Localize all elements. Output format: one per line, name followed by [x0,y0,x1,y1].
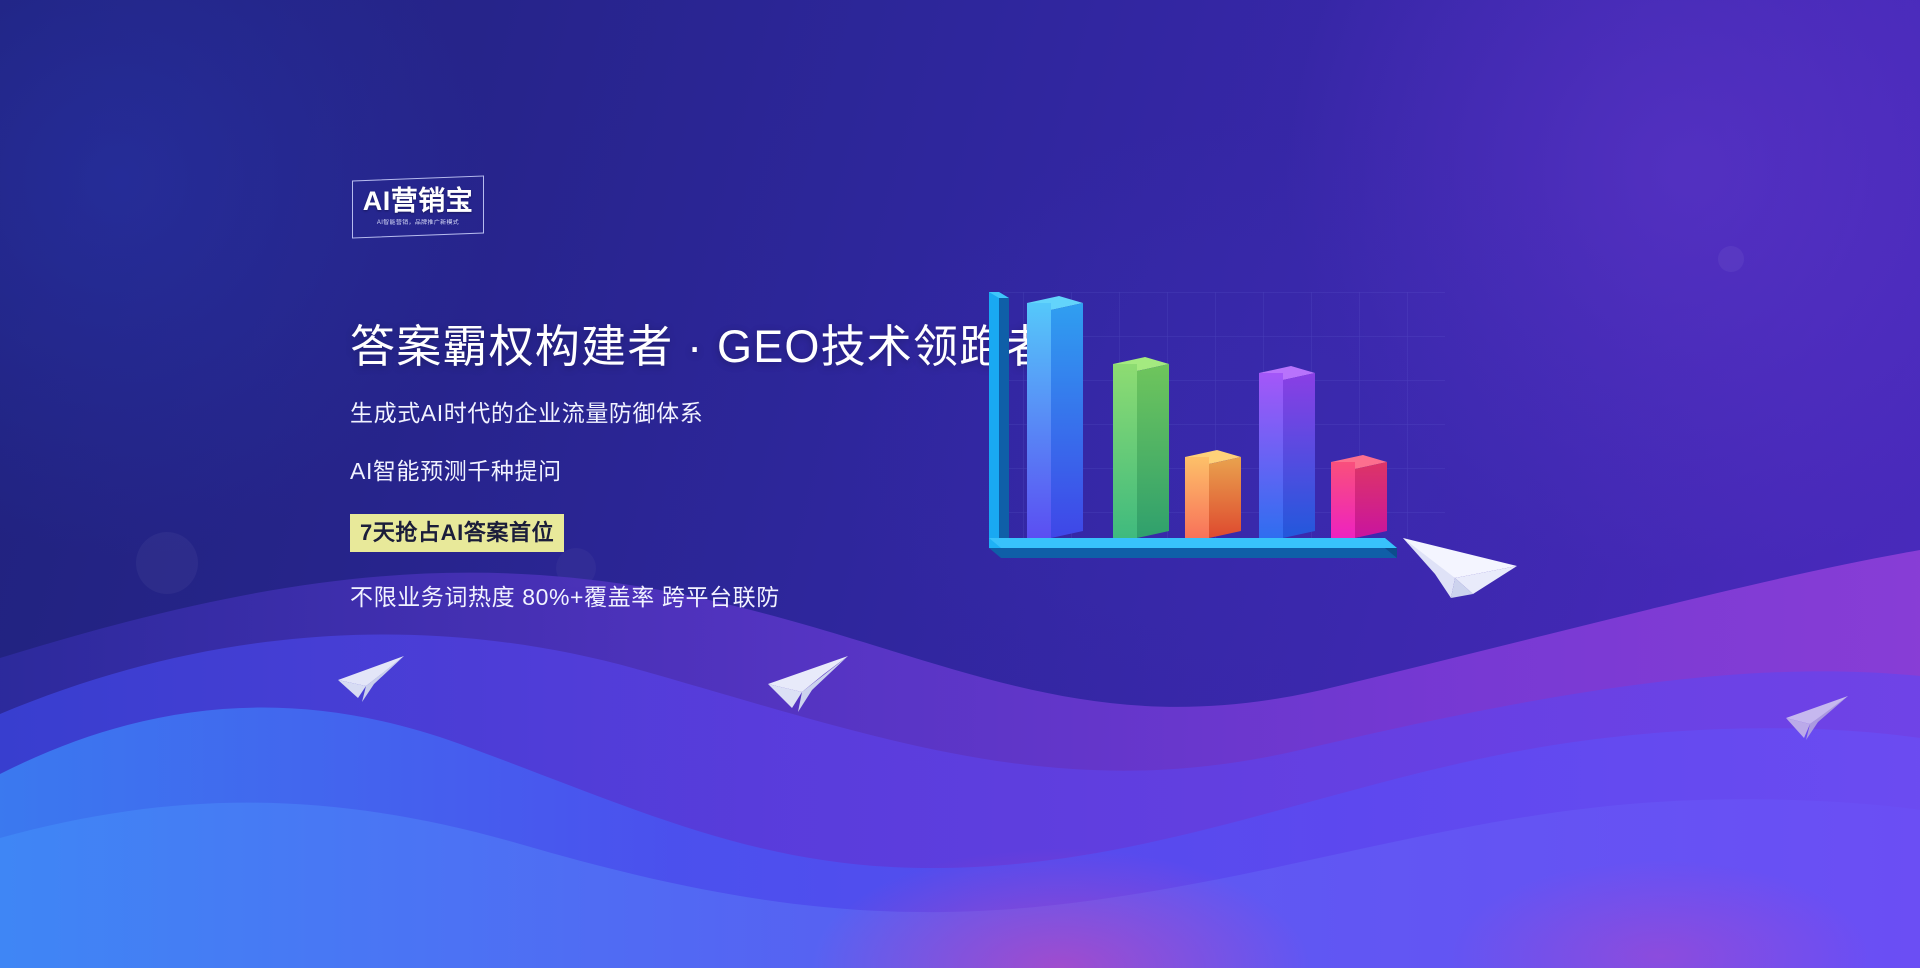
hero-subline-1: 生成式AI时代的企业流量防御体系 [350,398,1050,428]
paper-plane-icon [762,650,852,727]
bar-2 [1113,357,1169,538]
hero-banner: AI营销宝 AI智能营销，品牌推广新模式 答案霸权构建者 · GEO技术领跑者 … [0,0,1920,968]
page-title: 答案霸权构建者 · GEO技术领跑者 [350,318,1050,376]
hero-highlight-wrap: 7天抢占AI答案首位 [350,514,1050,552]
logo-wordmark: AI营销宝 [354,186,482,216]
bar-4 [1259,366,1315,538]
hero-subline-2: AI智能预测千种提问 [350,456,1050,486]
brand-logo[interactable]: AI营销宝 AI智能营销，品牌推广新模式 [352,178,484,236]
bar-chart [975,292,1445,672]
hero-highlight-badge: 7天抢占AI答案首位 [350,514,564,552]
hero-subline-4: 不限业务词热度 80%+覆盖率 跨平台联防 [350,582,1050,612]
hero-copy: 答案霸权构建者 · GEO技术领跑者 生成式AI时代的企业流量防御体系 AI智能… [350,318,1050,612]
bar-3 [1185,450,1241,538]
paper-plane-icon [1782,690,1852,751]
bar-5 [1331,455,1387,538]
paper-plane-icon [1395,512,1519,613]
logo-tagline: AI智能营销，品牌推广新模式 [355,219,482,227]
decor-circle [1718,246,1744,272]
bar-1 [1027,296,1083,538]
paper-plane-icon [332,650,406,713]
